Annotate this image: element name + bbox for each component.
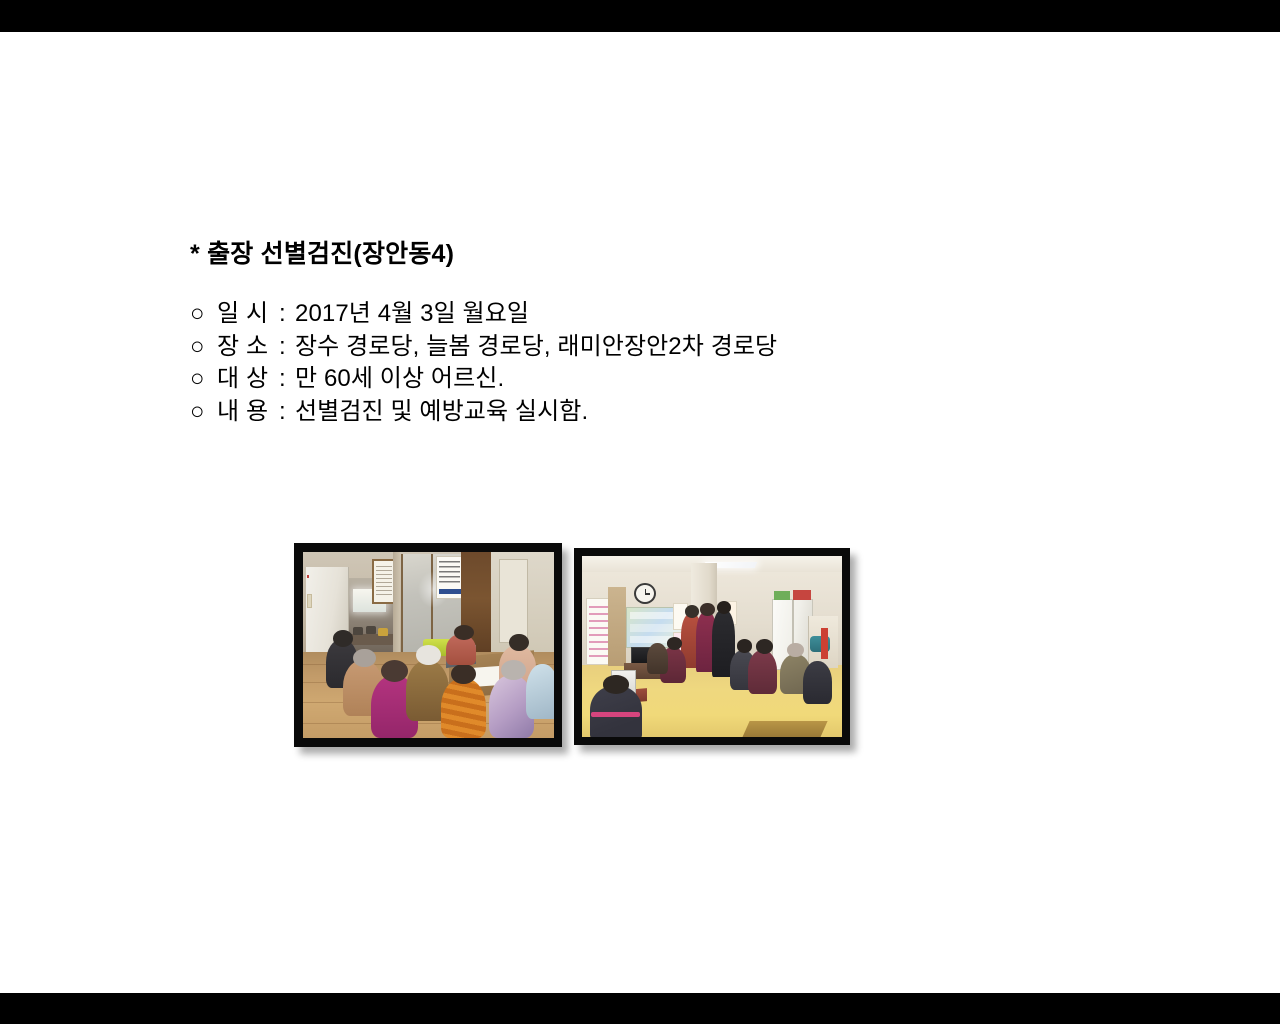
floor-mat [742, 721, 827, 737]
bullet-colon: : [279, 298, 295, 331]
bullet-colon: : [279, 331, 295, 364]
person-head [737, 639, 753, 653]
wall-panel [499, 559, 529, 643]
bullet-list: ○일 시:2017년 4월 3일 월요일 ○장 소:장수 경로당, 늘봄 경로당… [190, 298, 1090, 428]
person-head [756, 639, 773, 653]
person-head [603, 675, 629, 693]
list-item: ○내 용:선별검진 및 예방교육 실시함. [190, 396, 1090, 429]
jacket-trim [591, 712, 640, 717]
photo-content [582, 556, 842, 737]
slide-viewport: * 출장 선별검진(장안동4) ○일 시:2017년 4월 3일 월요일 ○장 … [0, 0, 1280, 1024]
list-item: ○대 상:만 60세 이상 어르신. [190, 363, 1090, 396]
page-title: * 출장 선별검진(장안동4) [190, 237, 1090, 271]
person-head [667, 637, 683, 650]
photo-content [303, 552, 554, 738]
seated-person [748, 650, 777, 693]
person-head [700, 603, 714, 616]
bullet-colon: : [279, 396, 295, 429]
person-head [451, 664, 476, 684]
bullet-label: 장 소 [217, 331, 279, 364]
bullet-circle-icon: ○ [190, 396, 217, 429]
hanging-cloth [821, 628, 828, 659]
bullet-circle-icon: ○ [190, 363, 217, 396]
photo-prevention-education-hall [574, 548, 850, 745]
bullet-circle-icon: ○ [190, 331, 217, 364]
fridge-magnet [307, 575, 309, 578]
photo-row [0, 32, 1280, 993]
door-frame [393, 552, 399, 656]
seated-person [803, 661, 832, 704]
cookware [378, 628, 388, 635]
eye-chart-band [439, 589, 461, 594]
kitchen-counter [348, 634, 396, 645]
slide-canvas: * 출장 선별검진(장안동4) ○일 시:2017년 4월 3일 월요일 ○장 … [0, 32, 1280, 993]
bullet-value: 선별검진 및 예방교육 실시함. [295, 398, 588, 425]
room-door [608, 587, 626, 667]
cookware [353, 627, 363, 634]
fridge-note [307, 594, 312, 608]
person-head [454, 625, 474, 641]
person-head [685, 605, 699, 618]
person-head [333, 630, 353, 647]
bullet-label: 내 용 [217, 396, 279, 429]
list-item: ○장 소:장수 경로당, 늘봄 경로당, 래미안장안2차 경로당 [190, 331, 1090, 364]
senior-person [526, 664, 554, 720]
storage-box [793, 590, 811, 600]
bullet-value: 만 60세 이상 어르신. [295, 365, 504, 392]
bullet-circle-icon: ○ [190, 298, 217, 331]
cookware [366, 626, 376, 633]
bullet-value: 2017년 4월 3일 월요일 [295, 300, 529, 327]
storage-box [774, 591, 790, 600]
person-head [353, 649, 376, 668]
list-item: ○일 시:2017년 4월 3일 월요일 [190, 298, 1090, 331]
bullet-label: 대 상 [217, 363, 279, 396]
bullet-value: 장수 경로당, 늘봄 경로당, 래미안장안2차 경로당 [295, 333, 777, 360]
photo-screening-session-seniors-seated [294, 543, 562, 747]
eye-chart-poster [436, 556, 463, 599]
bullet-colon: : [279, 363, 295, 396]
notice-text-lines [376, 566, 392, 597]
clock-hand [645, 593, 650, 595]
senior-person [441, 678, 486, 738]
bullet-label: 일 시 [217, 298, 279, 331]
slide-text-block: * 출장 선별검진(장안동4) ○일 시:2017년 4월 3일 월요일 ○장 … [190, 237, 1090, 428]
eye-chart-rows [439, 561, 460, 586]
calendar-rows [589, 606, 609, 658]
seated-person [647, 643, 668, 674]
